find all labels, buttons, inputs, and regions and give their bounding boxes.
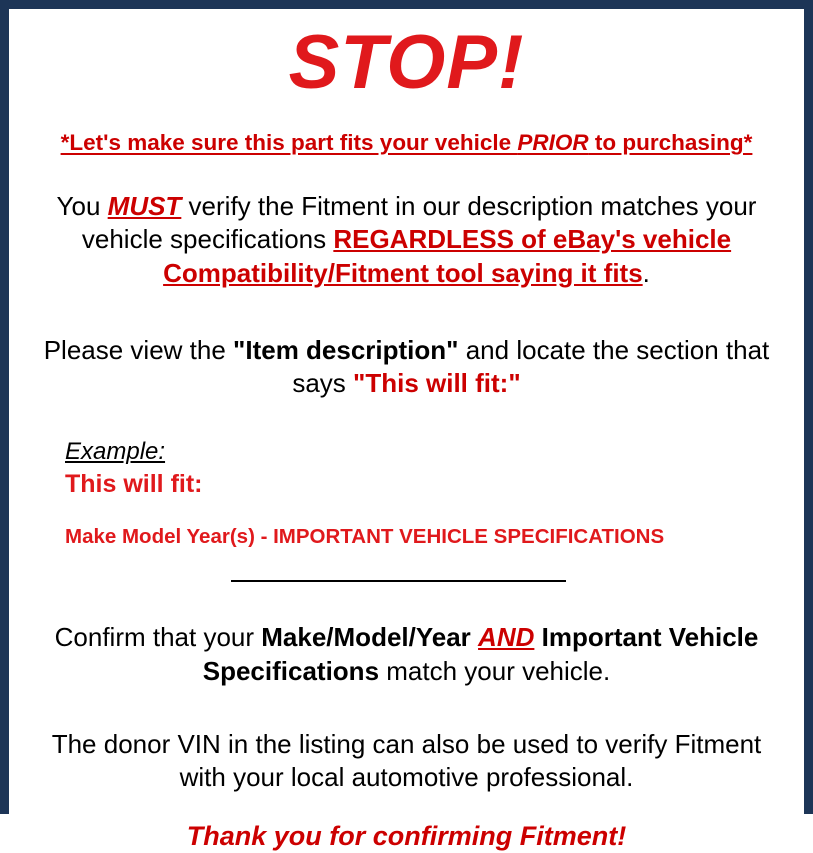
this-will-fit-quote: "This will fit:" (353, 368, 521, 398)
view-lead-text: Please view the (44, 335, 233, 365)
item-description-emphasis: "Item description" (233, 335, 458, 365)
example-fit-heading: This will fit: (65, 469, 796, 499)
page-title: STOP! (17, 25, 796, 101)
thank-you-message: Thank you for confirming Fitment! (17, 820, 796, 852)
paragraph-item-description: Please view the "Item description" and l… (17, 334, 796, 401)
must-lead-text: You (57, 191, 108, 221)
subtitle-emphasis-prior: PRIOR (517, 130, 588, 155)
example-label-row: Example: (65, 438, 796, 466)
fitment-notice-content: STOP! *Let's make sure this part fits yo… (9, 25, 804, 822)
make-model-year-emphasis: Make/Model/Year (261, 622, 471, 652)
confirm-tail-text: match your vehicle. (379, 656, 610, 686)
confirm-lead-text: Confirm that your (55, 622, 262, 652)
paragraph-donor-vin: The donor VIN in the listing can also be… (17, 728, 796, 795)
and-conjunction: AND (478, 622, 534, 652)
section-divider-wrap (17, 575, 796, 589)
subtitle-banner: *Let's make sure this part fits your veh… (17, 129, 796, 156)
example-section: Example: This will fit: Make Model Year(… (17, 438, 796, 549)
paragraph-confirm: Confirm that your Make/Model/Year AND Im… (17, 621, 796, 688)
example-label: Example: (65, 438, 165, 466)
subtitle-suffix: to purchasing* (589, 130, 753, 155)
example-spec-line: Make Model Year(s) - IMPORTANT VEHICLE S… (65, 525, 796, 550)
subtitle-prefix: *Let's make sure this part fits your veh… (61, 130, 518, 155)
paragraph-must-verify: You MUST verify the Fitment in our descr… (17, 190, 796, 290)
must-emphasis: MUST (108, 191, 182, 221)
section-divider (231, 580, 566, 582)
must-tail-text: . (643, 258, 650, 288)
fitment-notice-frame: STOP! *Let's make sure this part fits yo… (0, 0, 813, 814)
